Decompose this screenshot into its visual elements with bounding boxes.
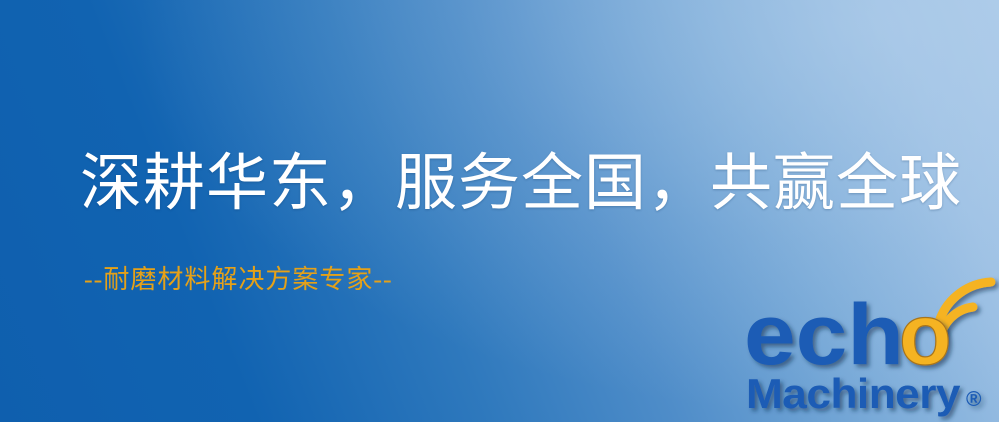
logo-tagline: Machinery xyxy=(746,370,961,417)
hero-banner: 深耕华东，服务全国，共赢全球 --耐磨材料解决方案专家-- ech o Mach… xyxy=(0,0,999,422)
echo-machinery-logo[interactable]: ech o Machinery ® xyxy=(744,296,996,422)
banner-subtitle: --耐磨材料解决方案专家-- xyxy=(84,266,393,295)
logo-brand-blue: ech xyxy=(744,287,904,383)
logo-brand-gold: o xyxy=(899,287,952,383)
logo-trademark: ® xyxy=(966,388,982,411)
banner-headline: 深耕华东，服务全国，共赢全球 xyxy=(80,152,962,217)
